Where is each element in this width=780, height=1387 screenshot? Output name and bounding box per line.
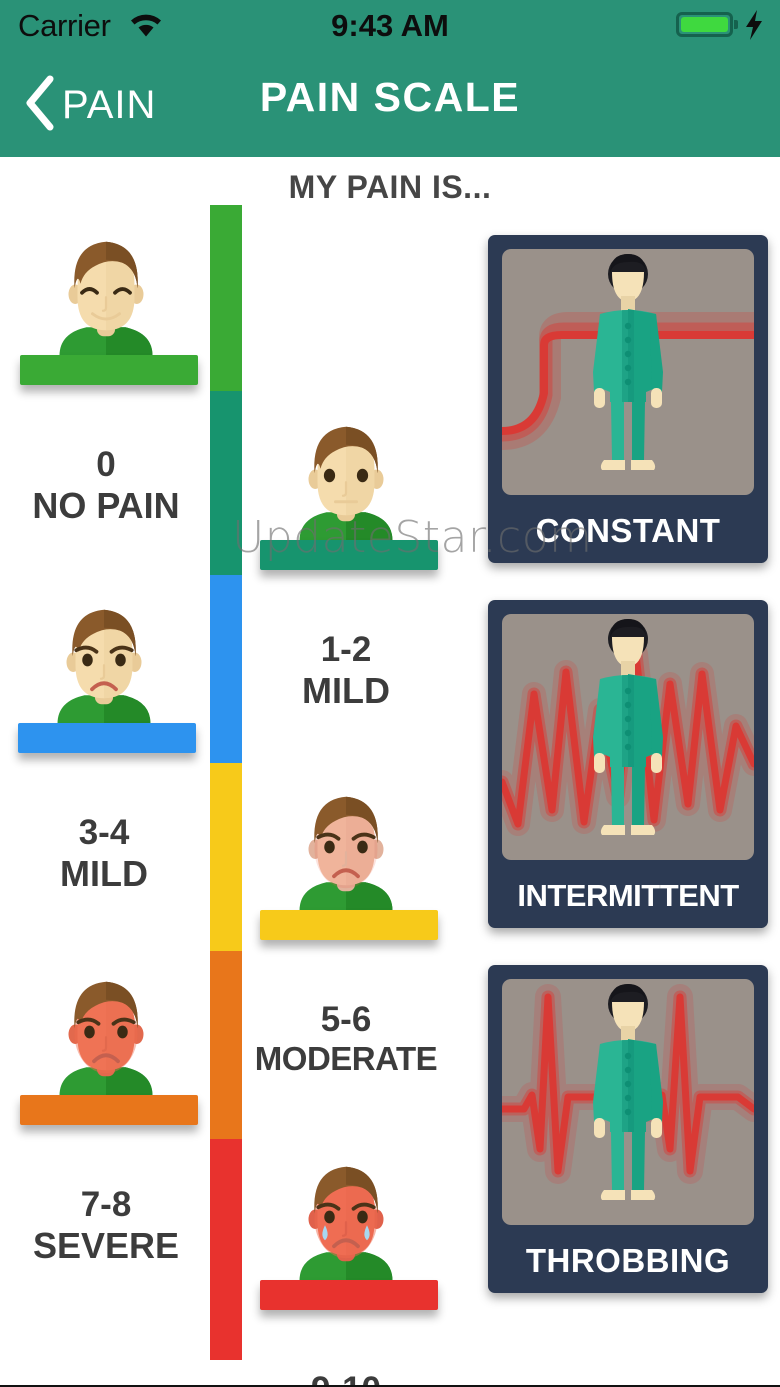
pain-face-illustration [8,957,204,1149]
pain-level-face-5-6[interactable]: 5-6MODERATE [248,772,444,1090]
pain-level-face-7-8[interactable]: 7-8SEVERE [8,957,204,1275]
pain-level-label: 0NO PAIN [8,445,204,527]
pain-type-card-intermittent[interactable]: INTERMITTENT [488,600,768,928]
scale-segment-mild-3-4[interactable] [210,575,242,763]
pain-face-illustration [248,1142,444,1334]
pain-level-word: MILD [6,853,202,894]
navigation-bar: PAIN PAIN SCALE [0,47,780,157]
pain-type-label: THROBBING [488,1229,768,1293]
page-title: PAIN SCALE [0,74,780,121]
pain-level-word: NO PAIN [8,485,204,526]
battery-full-icon [676,12,733,37]
pain-face-illustration [8,217,204,409]
pain-level-color-bar [260,540,438,570]
scale-segment-worst[interactable] [210,1139,242,1360]
pain-level-face-3-4[interactable]: 3-4MILD [6,585,202,903]
pain-type-card-constant[interactable]: CONSTANT [488,235,768,563]
pain-level-color-bar [20,355,198,385]
lightning-bolt-icon [744,10,764,45]
section-title: MY PAIN IS... [0,169,780,206]
pain-level-label: 1-2MILD [248,630,444,712]
pain-level-word: MILD [248,670,444,711]
pain-type-label: CONSTANT [488,499,768,563]
standing-patient-icon [572,617,684,852]
pain-type-illustration-constant [502,249,754,495]
pain-face-illustration [248,402,444,594]
pain-level-label: 7-8SEVERE [8,1185,204,1267]
pain-level-face-9-10[interactable]: 9-10WORST [248,1142,444,1387]
pain-level-score: 0 [8,445,204,485]
clock-label: 9:43 AM [0,8,780,44]
scale-segment-no-pain[interactable] [210,205,242,391]
pain-level-score: 7-8 [8,1185,204,1225]
pain-scale-screen: Carrier 9:43 AM PAIN PAIN [0,0,780,1387]
pain-type-card-throbbing[interactable]: THROBBING [488,965,768,1293]
pain-face-illustration [248,772,444,964]
pain-level-color-bar [260,910,438,940]
pain-color-scale[interactable] [210,205,242,1360]
pain-level-color-bar [20,1095,198,1125]
pain-level-face-1-2[interactable]: 1-2MILD [248,402,444,720]
pain-level-label: 5-6MODERATE [248,1000,444,1078]
scale-segment-mild-1-2[interactable] [210,391,242,575]
pain-type-illustration-throbbing [502,979,754,1225]
pain-level-word: SEVERE [8,1225,204,1266]
pain-level-word: MODERATE [248,1040,444,1078]
pain-level-score: 3-4 [6,813,202,853]
pain-level-label: 3-4MILD [6,813,202,895]
pain-level-color-bar [18,723,196,753]
pain-type-label: INTERMITTENT [488,864,768,928]
status-bar: Carrier 9:43 AM [0,0,780,47]
scale-segment-severe[interactable] [210,951,242,1139]
pain-level-color-bar [260,1280,438,1310]
pain-level-score: 1-2 [248,630,444,670]
scale-segment-moderate[interactable] [210,763,242,951]
pain-face-illustration [6,585,202,777]
pain-level-face-0[interactable]: 0NO PAIN [8,217,204,535]
standing-patient-icon [572,982,684,1217]
pain-level-score: 5-6 [248,1000,444,1040]
pain-type-illustration-intermittent [502,614,754,860]
main-content: MY PAIN IS... 0NO PAIN [0,157,780,1385]
battery-nub-icon [734,20,738,29]
standing-patient-icon [572,252,684,487]
